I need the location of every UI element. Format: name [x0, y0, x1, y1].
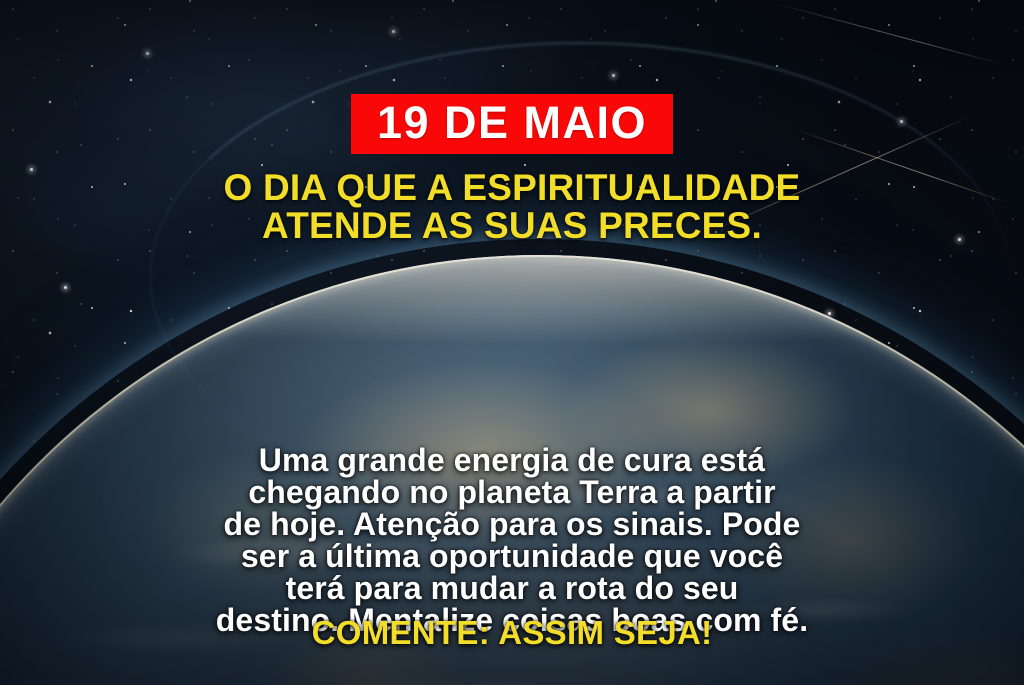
call-to-action: COMENTE: ASSIM SEJA! [0, 614, 1024, 652]
call-to-action-text: COMENTE: ASSIM SEJA! [312, 614, 713, 651]
body-line-2: chegando no planeta Terra a partir [0, 476, 1024, 508]
body-line-1: Uma grande energia de cura está [0, 444, 1024, 476]
body-line-5: terá para mudar a rota do seu [0, 572, 1024, 604]
headline-line-2: ATENDE AS SUAS PRECES. [224, 207, 801, 245]
date-banner-text: 19 DE MAIO [377, 100, 647, 145]
date-banner: 19 DE MAIO [351, 94, 673, 154]
body-line-3: de hoje. Atenção para os sinais. Pode [0, 508, 1024, 540]
body-line-4: ser a última oportunidade que você [0, 540, 1024, 572]
poster-content: 19 DE MAIO O DIA QUE A ESPIRITUALIDADE A… [0, 0, 1024, 685]
body-paragraph: Uma grande energia de cura está chegando… [0, 444, 1024, 636]
page-title: O DIA QUE A ESPIRITUALIDADE ATENDE AS SU… [224, 169, 801, 244]
social-media-poster: 19 DE MAIO O DIA QUE A ESPIRITUALIDADE A… [0, 0, 1024, 685]
headline-line-1: O DIA QUE A ESPIRITUALIDADE [224, 169, 801, 207]
